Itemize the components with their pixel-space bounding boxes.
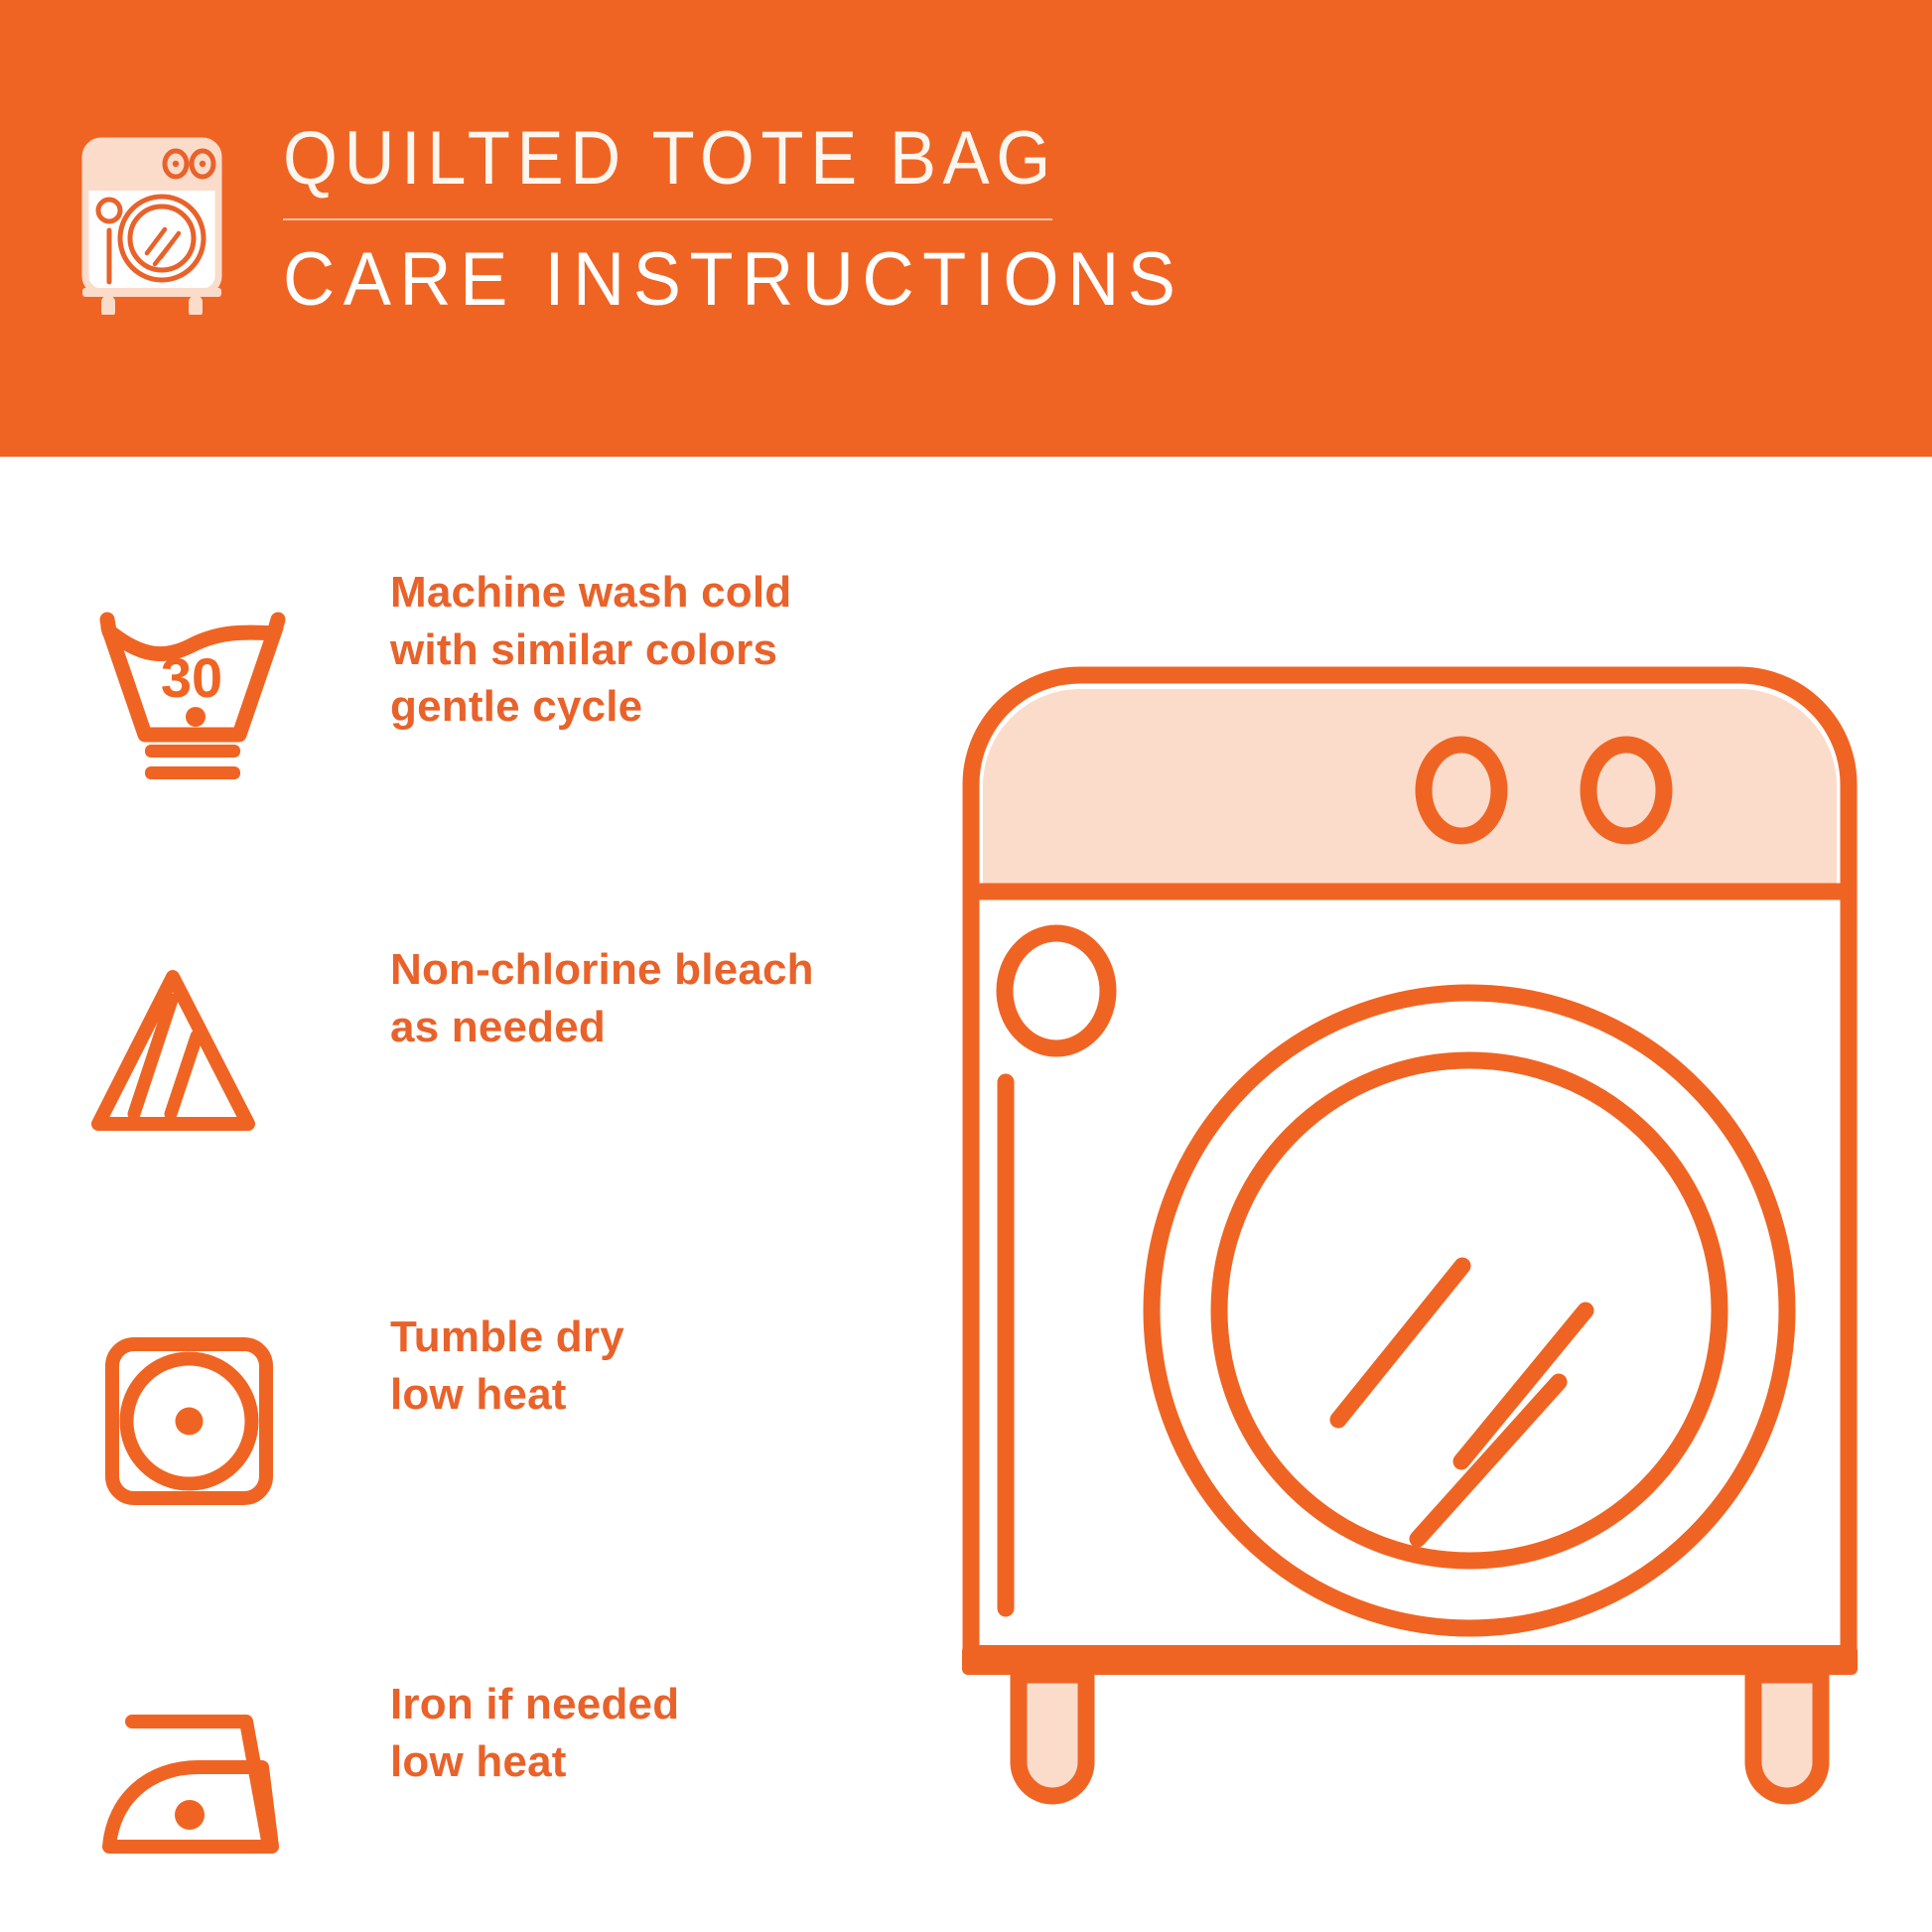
list-item-label: Machine wash cold with similar colors ge… xyxy=(390,564,791,736)
wash-tub-30-degrees-icon: 30 xyxy=(87,588,296,786)
header-text-block: QUILTED TOTE BAG CARE INSTRUCTIONS xyxy=(283,121,1067,318)
iron-low-heat-icon xyxy=(87,1690,296,1888)
tumble-dry-low-heat-icon xyxy=(87,1322,296,1521)
page-title: QUILTED TOTE BAG xyxy=(283,121,1013,197)
list-item: Iron if needed low heat xyxy=(0,1737,923,1837)
washing-machine-illustration xyxy=(953,616,1866,1847)
control-panel xyxy=(983,689,1837,884)
base-bar xyxy=(962,1645,1858,1675)
header-banner: QUILTED TOTE BAG CARE INSTRUCTIONS xyxy=(0,0,1932,457)
non-chlorine-bleach-triangle-icon xyxy=(87,955,296,1154)
knob-left xyxy=(1424,745,1499,836)
wash-temperature-label: 30 xyxy=(161,646,222,709)
page-subtitle: CARE INSTRUCTIONS xyxy=(283,242,1029,318)
list-item: Non-chlorine bleach as needed xyxy=(0,1003,923,1102)
washing-machine-icon xyxy=(77,131,226,315)
list-item: Tumble dry low heat xyxy=(0,1370,923,1469)
list-item-label: Tumble dry low heat xyxy=(390,1309,624,1423)
list-item: 30 Machine wash cold with similar colors… xyxy=(0,635,923,735)
care-instruction-list: 30 Machine wash cold with similar colors… xyxy=(0,635,923,1033)
list-item-label: Iron if needed low heat xyxy=(390,1676,679,1790)
knob-right xyxy=(1588,745,1664,836)
leg-right xyxy=(1753,1675,1821,1796)
title-divider xyxy=(283,218,1052,220)
care-instructions-poster: QUILTED TOTE BAG CARE INSTRUCTIONS 30 xyxy=(0,0,1932,1932)
leg-left xyxy=(1019,1675,1086,1796)
list-item-label: Non-chlorine bleach as needed xyxy=(390,941,814,1055)
